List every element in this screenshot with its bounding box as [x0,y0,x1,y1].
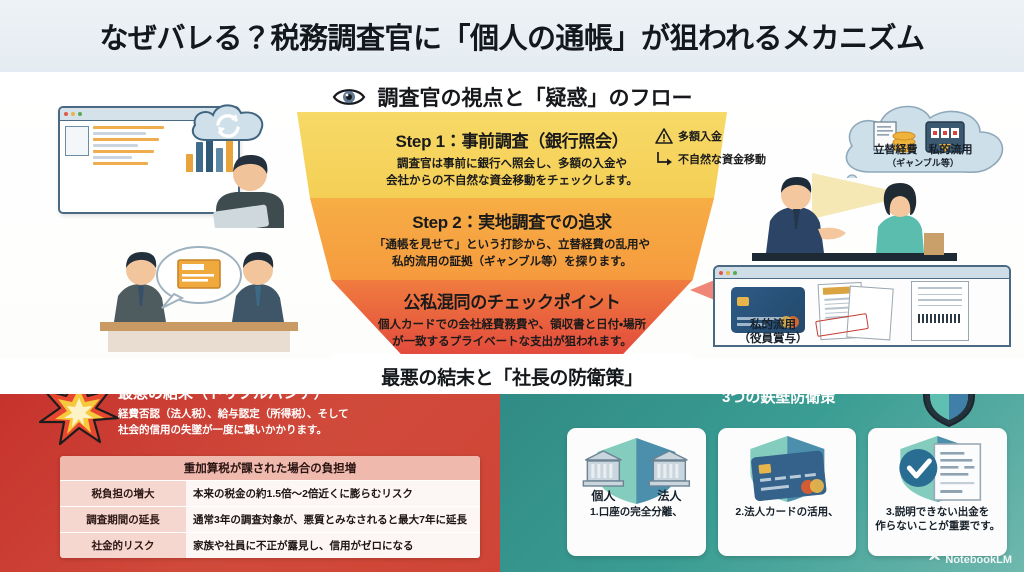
watermark-label: NotebookLM [945,554,1012,566]
private-use-line2: （役員賞与） [725,333,821,347]
window-max-dot [733,271,737,275]
table-row-value: 本来の税金の約1.5倍〜2倍近くに膨らむリスク [186,481,480,506]
window-close-dot [719,271,723,275]
funnel-step-2-heading: Step 2：実地調査での追求 [412,208,612,233]
document-icon [65,126,89,172]
penalty-table-caption: 重加算税が課された場合の負担増 [60,456,480,480]
receipts-content: 私的流用 （役員賞与） [715,279,1009,347]
warning-callout-2: 不自然な資金移動 [655,151,795,167]
defense-card-1[interactable]: 個人 法人 1.口座の完全分離、 [567,428,706,556]
defense-card-2[interactable]: 2.法人カードの活用、 [718,428,857,556]
thought-cloud: 立替経費 私的流用 （ギャンブル等） [830,100,1016,178]
defense-cards: 個人 法人 1.口座の完全分離、 [567,428,1007,556]
data-lines [93,126,182,172]
funnel-step-3: 公私混同のチェックポイント 個人カードでの会社経費務費や、領収書と日付・場所 が… [297,280,727,358]
table-row: 調査期間の延長 通常3年の調査対象が、悪質とみなされると最大7年に延長 [60,506,480,532]
presenter-illustration [752,167,957,277]
table-row-label: 税負担の増大 [60,481,186,506]
outcome-section: 最悪の結末（トリプルパンチ） 経費否認（法人税）、給与認定（所得税）、そして 社… [0,370,1024,572]
window-min-dot [726,271,730,275]
funnel-step-2-body: 「通帳を見せて」という打診から、立替経費の乱用や 私的流用の証拠（ギャンブル等）… [374,237,650,270]
window-min-dot [71,112,75,116]
eyebrow-label: 調査官の視点と「疑惑」のフロー [378,82,693,112]
table-row-label: 社金的リスク [60,533,186,558]
eye-icon [332,86,366,108]
mid-banner: 最悪の結末と「社長の防衛策」 [0,358,1024,394]
thought-cloud-label: 立替経費 私的流用 （ギャンブル等） [830,144,1016,169]
private-use-line1: 私的流用 [725,319,821,333]
table-row-value: 通常3年の調査対象が、悪質とみなされると最大7年に延長 [186,507,480,532]
verified-receipt-icon [868,434,1007,506]
penalty-table: 重加算税が課された場合の負担増 税負担の増大 本来の税金の約1.5倍〜2倍近くに… [60,456,480,558]
funnel-step-3-heading: 公私混同のチェックポイント [403,288,620,313]
funnel-section: 調査官の視点と「疑惑」のフロー [0,72,1024,358]
table-row: 社金的リスク 家族や社員に不正が露見し、信用がゼロになる [60,532,480,558]
window-close-dot [64,112,68,116]
warning-callout-1-label: 多額入金 [678,128,722,144]
interview-illustration [92,230,307,352]
warning-callout-1: 多額入金 [655,128,795,144]
analyst-person-icon [206,150,301,228]
receipt-icon-2 [846,286,894,341]
analyst-illustration [58,96,288,224]
notebooklm-icon [928,553,941,566]
defense-card-3[interactable]: 3.説明できない出金を 作らないことが重要です。 [868,428,1007,556]
infographic-page: なぜバレる？税務調査官に「個人の通帳」が狙われるメカニズム 調査官の視点と「疑惑… [0,0,1024,572]
defense-card-1-sub-left: 個人 [590,488,616,503]
receipts-window-titlebar [715,267,1009,279]
funnel-step-1-body: 調査官は事前に銀行へ照会し、多額の入金や 会社からの不自然な資金移動をチェックし… [386,156,638,189]
header-banner: なぜバレる？税務調査官に「個人の通帳」が狙われるメカニズム [0,0,1024,72]
page-title: なぜバレる？税務調査官に「個人の通帳」が狙われるメカニズム [99,15,924,57]
private-use-card: 私的流用 （役員賞与） [713,265,1011,347]
worst-outcome-body: 経費否認（法人税）、給与認定（所得税）、そして 社会的信用の失墜が一度に襲いかか… [118,407,448,439]
thought-cloud-line1: 立替経費 私的流用 [874,144,973,156]
bank-separation-icon: 個人 法人 [567,434,706,506]
defense-card-1-sub-right: 法人 [657,488,682,503]
window-max-dot [78,112,82,116]
private-use-label: 私的流用 （役員賞与） [725,319,821,347]
table-row-value: 家族や社員に不正が露見し、信用がゼロになる [186,533,480,558]
receipt-icon-3 [911,281,969,341]
funnel-step-1-heading: Step 1：事前調査（銀行照会） [396,127,629,152]
warning-callout-2-label: 不自然な資金移動 [678,151,766,167]
corporate-card-icon [718,434,857,506]
cloud-sync-icon [186,96,272,150]
defense-card-2-text: 2.法人カードの活用、 [731,506,842,520]
watermark: NotebookLM [928,553,1012,566]
funnel-step-3-body: 個人カードでの会社経費務費や、領収書と日付・場所 が一致するプライベートな支出が… [378,317,646,350]
warning-triangle-icon [655,128,673,144]
mid-banner-label: 最悪の結末と「社長の防衛策」 [381,363,643,390]
thought-cloud-line2: （ギャンブル等） [830,158,1016,169]
defense-card-3-text: 3.説明できない出金を 作らないことが重要です。 [871,506,1004,533]
funnel-step-2: Step 2：実地調査での追求 「通帳を見せて」という打診から、立替経費の乱用や… [297,198,727,280]
table-row: 税負担の増大 本来の税金の約1.5倍〜2倍近くに膨らむリスク [60,480,480,506]
arrow-right-icon [655,151,673,167]
defense-card-1-text: 1.口座の完全分離、 [586,506,687,520]
table-row-label: 調査期間の延長 [60,507,186,532]
